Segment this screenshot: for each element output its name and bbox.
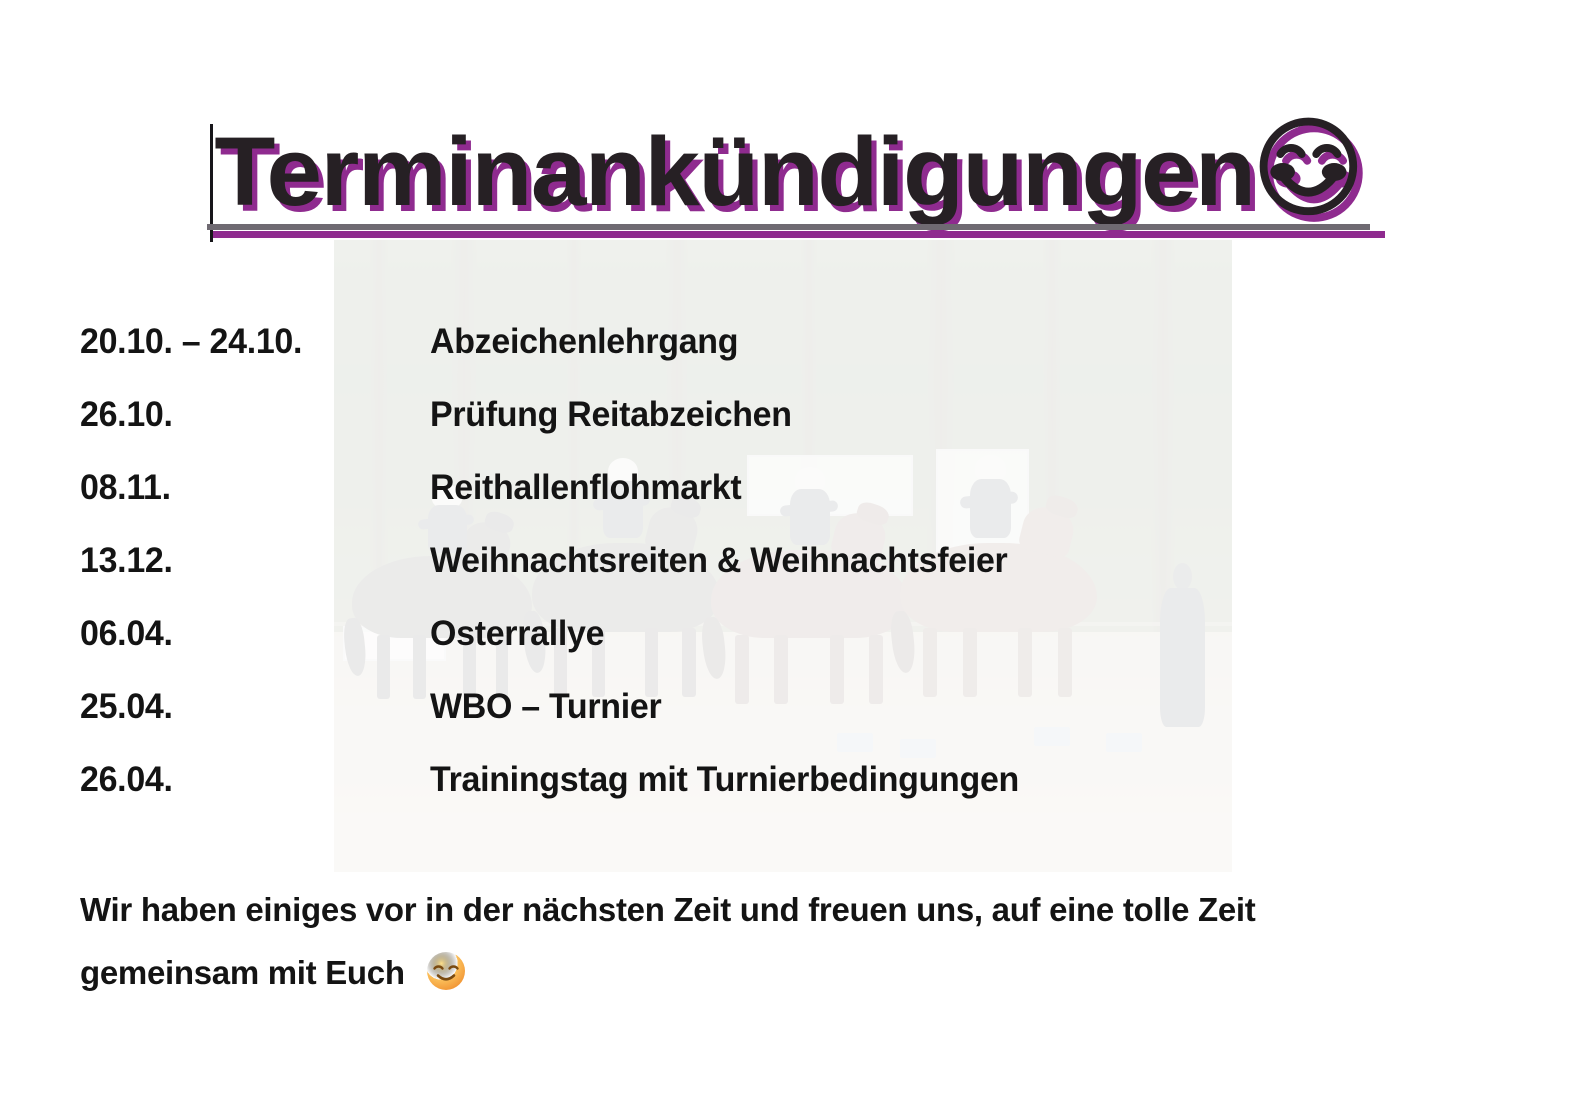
- list-item: 13.12. Weihnachtsreiten & Weihnachtsfeie…: [80, 541, 1540, 614]
- closing-line-1: Wir haben einiges vor in der nächsten Ze…: [80, 878, 1500, 941]
- schedule-date: 26.10.: [80, 395, 420, 435]
- list-item: 08.11. Reithallenflohmarkt: [80, 468, 1540, 541]
- schedule-date: 25.04.: [80, 687, 420, 727]
- schedule-event: Prüfung Reitabzeichen: [430, 395, 792, 435]
- title-underline-dark: [207, 224, 1370, 230]
- schedule-date: 26.04.: [80, 760, 420, 800]
- closing-paragraph: Wir haben einiges vor in der nächsten Ze…: [80, 878, 1500, 1004]
- schedule-list: 20.10. – 24.10. Abzeichenlehrgang 26.10.…: [80, 322, 1540, 833]
- title-underline-purple: [213, 231, 1385, 238]
- schedule-event: Abzeichenlehrgang: [430, 322, 738, 362]
- list-item: 26.04. Trainingstag mit Turnierbedingung…: [80, 760, 1540, 833]
- closing-line-2-text: gemeinsam mit Euch: [80, 954, 405, 991]
- schedule-date: 08.11.: [80, 468, 420, 508]
- list-item: 25.04. WBO – Turnier: [80, 687, 1540, 760]
- list-item: 20.10. – 24.10. Abzeichenlehrgang: [80, 322, 1540, 395]
- smiling-face-with-smiling-eyes-icon: [426, 948, 466, 988]
- list-item: 06.04. Osterrallye: [80, 614, 1540, 687]
- schedule-date: 20.10. – 24.10.: [80, 322, 420, 362]
- schedule-event: Reithallenflohmarkt: [430, 468, 741, 508]
- smiling-face-with-smiling-eyes-outline-icon: [1258, 116, 1370, 228]
- list-item: 26.10. Prüfung Reitabzeichen: [80, 395, 1540, 468]
- page-title: Terminankündigungen: [200, 116, 1370, 228]
- schedule-event: Weihnachtsreiten & Weihnachtsfeier: [430, 541, 1007, 581]
- schedule-event: Trainingstag mit Turnierbedingungen: [430, 760, 1019, 800]
- closing-line-2: gemeinsam mit Euch: [80, 941, 1500, 1004]
- schedule-date: 06.04.: [80, 614, 420, 654]
- schedule-event: WBO – Turnier: [430, 687, 661, 727]
- page-title-text: Terminankündigungen: [200, 123, 1254, 222]
- schedule-event: Osterrallye: [430, 614, 604, 654]
- schedule-date: 13.12.: [80, 541, 420, 581]
